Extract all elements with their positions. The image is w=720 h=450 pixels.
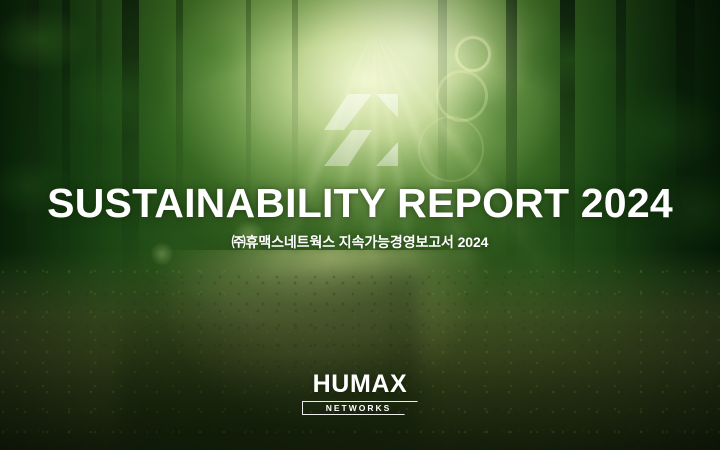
page-subtitle: ㈜휴맥스네트웍스 지속가능경영보고서 2024: [0, 232, 720, 252]
report-cover: SUSTAINABILITY REPORT 2024 ㈜휴맥스네트웍스 지속가능…: [0, 0, 720, 450]
humax-x-mark-icon: [318, 92, 404, 168]
logo-wordmark: HUMAX: [302, 372, 418, 397]
logo-sub-band: NETWORKS: [302, 401, 418, 415]
humax-networks-logo: HUMAX NETWORKS: [302, 372, 418, 415]
page-title: SUSTAINABILITY REPORT 2024: [0, 182, 720, 225]
logo-sub-wordmark: NETWORKS: [326, 404, 395, 413]
